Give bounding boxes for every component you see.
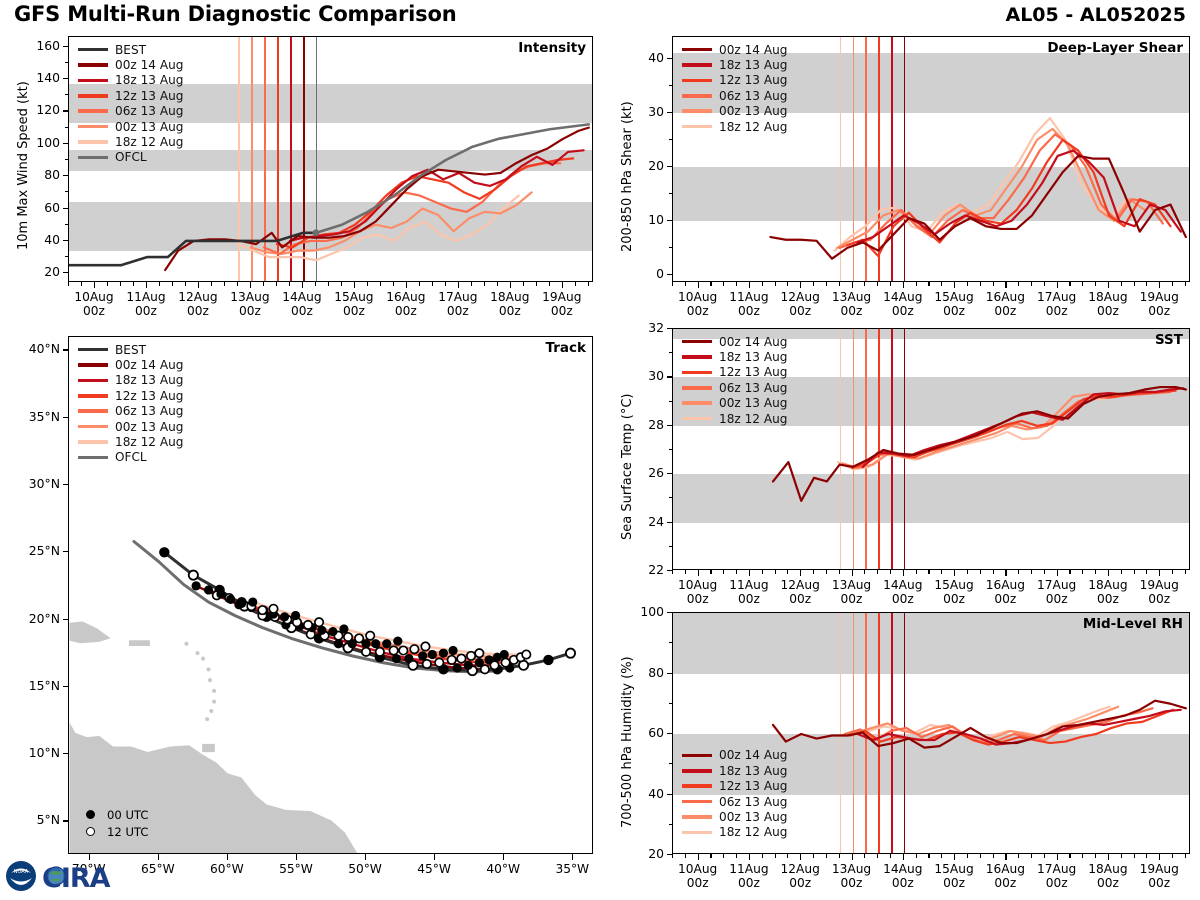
x-tick-minor xyxy=(380,282,381,286)
legend-item[interactable]: 00z 14 Aug xyxy=(78,57,183,72)
x-tick-minor xyxy=(1044,282,1045,286)
x-tick-mark xyxy=(1057,854,1058,860)
y-tick-mark xyxy=(667,274,672,275)
y-tick-mark xyxy=(667,473,672,474)
x-tick-minor xyxy=(133,282,134,286)
x-tick-minor xyxy=(1082,854,1083,858)
legend-item[interactable]: 18z 12 Aug xyxy=(682,825,787,840)
legend-item[interactable]: 00z 14 Aug xyxy=(682,42,787,57)
legend-item[interactable]: 12z 13 Aug xyxy=(78,88,183,103)
storm-id-title: AL05 - AL052025 xyxy=(1006,4,1187,26)
legend-item-label: 18z 13 Aug xyxy=(115,373,183,387)
legend-item[interactable]: 18z 12 Aug xyxy=(682,411,787,426)
y-tick-label: 160 xyxy=(22,38,60,53)
legend-item-label: 18z 13 Aug xyxy=(719,764,787,778)
track-marker-00utc xyxy=(159,547,169,557)
legend-item-label: 06z 13 Aug xyxy=(719,381,787,395)
legend-item[interactable]: 12z 13 Aug xyxy=(682,365,787,380)
x-tick-minor xyxy=(685,282,686,286)
legend-item-label: 06z 13 Aug xyxy=(719,795,787,809)
legend-item-label: 00z 14 Aug xyxy=(115,58,183,72)
x-tick-mark xyxy=(1005,570,1006,576)
latitude-tick-label: 15°N xyxy=(10,678,60,693)
x-tick-mark xyxy=(749,282,750,288)
x-tick-minor xyxy=(685,854,686,858)
x-tick-minor xyxy=(672,854,673,858)
y-tick-label: 20 xyxy=(626,846,664,861)
y-tick-label: 24 xyxy=(626,514,664,529)
x-tick-minor xyxy=(787,282,788,286)
longitude-tick-label: 50°W xyxy=(333,862,397,876)
legend-color-swatch xyxy=(78,363,108,367)
x-tick-minor xyxy=(916,570,917,574)
longitude-tick-mark xyxy=(227,854,228,860)
x-tick-mark xyxy=(698,570,699,576)
x-tick-minor xyxy=(775,282,776,286)
legend-item-label: 18z 12 Aug xyxy=(115,435,183,449)
x-tick-minor xyxy=(419,282,420,286)
x-tick-minor xyxy=(1044,854,1045,858)
x-tick-minor xyxy=(928,854,929,858)
legend-item[interactable]: 00z 13 Aug xyxy=(682,104,787,119)
x-tick-minor xyxy=(993,570,994,574)
x-tick-minor xyxy=(107,282,108,286)
legend-item-label: OFCL xyxy=(115,450,147,464)
x-tick-mark xyxy=(852,570,853,576)
latitude-tick-mark xyxy=(63,349,68,350)
shear-legend: 00z 14 Aug18z 13 Aug12z 13 Aug06z 13 Aug… xyxy=(682,42,787,134)
x-tick-mark xyxy=(1159,570,1160,576)
intensity-legend: BEST00z 14 Aug18z 13 Aug12z 13 Aug06z 13… xyxy=(78,42,183,165)
track-marker-12utc xyxy=(447,656,455,664)
legend-color-swatch xyxy=(682,79,712,83)
track-marker-12utc xyxy=(376,648,384,656)
x-tick-minor xyxy=(826,570,827,574)
legend-color-swatch xyxy=(682,48,712,52)
x-tick-minor xyxy=(1069,282,1070,286)
legend-item-label: 12z 13 Aug xyxy=(115,89,183,103)
track-marker-00utc xyxy=(543,655,553,665)
legend-item[interactable]: 00z 14 Aug xyxy=(682,748,787,763)
x-tick-minor xyxy=(1121,570,1122,574)
track-marker-12utc xyxy=(389,646,397,654)
track-marker-12utc xyxy=(315,618,323,626)
x-tick-minor xyxy=(775,570,776,574)
longitude-tick-mark xyxy=(434,854,435,860)
legend-item-label: 00z 13 Aug xyxy=(719,104,787,118)
track-marker-12utc xyxy=(410,645,418,653)
x-tick-label: 19Aug00z xyxy=(532,290,592,318)
x-tick-mark xyxy=(1108,282,1109,288)
marker-legend-label: 00 UTC xyxy=(107,808,148,822)
x-tick-minor xyxy=(736,282,737,286)
shear-y-axis-label: 200-850 hPa Shear (kt) xyxy=(620,101,635,252)
panel-intensity: Intensity BEST00z 14 Aug18z 13 Aug12z 13… xyxy=(68,36,593,282)
track-marker-12utc xyxy=(304,621,312,629)
x-tick-minor xyxy=(916,282,917,286)
legend-item[interactable]: 00z 14 Aug xyxy=(682,334,787,349)
legend-color-swatch xyxy=(78,48,108,52)
legend-item-label: 12z 13 Aug xyxy=(115,389,183,403)
x-tick-minor xyxy=(864,282,865,286)
y-tick-minor xyxy=(669,85,672,86)
sst-panel-label: SST xyxy=(1155,332,1183,348)
x-tick-minor xyxy=(367,282,368,286)
y-tick-mark xyxy=(667,328,672,329)
legend-item[interactable]: 00z 14 Aug xyxy=(78,357,183,372)
x-tick-minor xyxy=(723,282,724,286)
track-marker-00utc xyxy=(216,589,225,598)
x-tick-minor xyxy=(68,282,69,286)
x-tick-label: 19Aug00z xyxy=(1129,578,1189,606)
y-tick-minor xyxy=(669,763,672,764)
legend-item[interactable]: 00z 13 Aug xyxy=(78,419,183,434)
track-marker-12utc xyxy=(344,633,352,641)
rh-legend: 00z 14 Aug18z 13 Aug12z 13 Aug06z 13 Aug… xyxy=(682,748,787,840)
y-tick-label: 20 xyxy=(626,158,664,173)
track-marker-12utc xyxy=(501,658,509,666)
legend-color-swatch xyxy=(682,63,712,67)
y-tick-mark xyxy=(63,46,68,47)
track-marker-12utc xyxy=(522,650,530,658)
legend-item-label: 12z 13 Aug xyxy=(719,365,787,379)
x-tick-mark xyxy=(354,282,355,288)
legend-item[interactable]: 12z 13 Aug xyxy=(682,778,787,793)
y-tick-mark xyxy=(667,220,672,221)
x-tick-minor xyxy=(1172,570,1173,574)
legend-item-label: 06z 13 Aug xyxy=(115,404,183,418)
y-tick-label: 60 xyxy=(626,725,664,740)
x-tick-mark xyxy=(749,570,750,576)
longitude-tick-label: 60°W xyxy=(195,862,259,876)
x-tick-minor xyxy=(928,570,929,574)
x-tick-minor xyxy=(826,282,827,286)
legend-item[interactable]: 06z 13 Aug xyxy=(78,404,183,419)
legend-item[interactable]: 18z 12 Aug xyxy=(682,119,787,134)
x-tick-mark xyxy=(749,854,750,860)
legend-item-label: 18z 12 Aug xyxy=(719,412,787,426)
y-tick-minor xyxy=(65,159,68,160)
legend-item[interactable]: 00z 13 Aug xyxy=(682,396,787,411)
x-tick-minor xyxy=(1185,570,1186,574)
legend-item[interactable]: 06z 13 Aug xyxy=(682,794,787,809)
x-tick-minor xyxy=(993,854,994,858)
track-marker-12utc xyxy=(355,634,363,642)
x-tick-minor xyxy=(710,570,711,574)
x-tick-minor xyxy=(813,854,814,858)
series-line xyxy=(840,134,1163,248)
legend-color-swatch xyxy=(78,456,108,460)
y-tick-minor xyxy=(65,94,68,95)
x-tick-minor xyxy=(877,854,878,858)
y-tick-mark xyxy=(667,376,672,377)
y-tick-mark xyxy=(63,240,68,241)
legend-item-label: 00z 14 Aug xyxy=(719,748,787,762)
x-tick-mark xyxy=(698,282,699,288)
latitude-tick-label: 35°N xyxy=(10,409,60,424)
longitude-tick-mark xyxy=(572,854,573,860)
track-marker-00utc xyxy=(453,663,462,672)
y-tick-label: 20 xyxy=(22,264,60,279)
x-tick-minor xyxy=(81,282,82,286)
x-tick-label: 19Aug00z xyxy=(1129,862,1189,890)
open-marker-icon xyxy=(86,827,95,836)
x-tick-mark xyxy=(800,570,801,576)
x-tick-minor xyxy=(159,282,160,286)
y-tick-minor xyxy=(669,352,672,353)
svg-text:NOAA: NOAA xyxy=(14,869,29,875)
y-tick-minor xyxy=(65,256,68,257)
y-tick-minor xyxy=(669,401,672,402)
x-tick-minor xyxy=(710,282,711,286)
legend-color-swatch xyxy=(78,440,108,444)
track-marker-00utc xyxy=(339,624,348,633)
series-line xyxy=(773,387,1186,501)
x-tick-minor xyxy=(685,570,686,574)
x-tick-minor xyxy=(484,282,485,286)
legend-color-swatch xyxy=(682,94,712,98)
x-tick-mark xyxy=(954,282,955,288)
legend-item[interactable]: BEST xyxy=(78,42,183,57)
legend-item[interactable]: 18z 12 Aug xyxy=(78,434,183,449)
legend-color-swatch xyxy=(78,94,108,98)
noaa-logo-icon: NOAA xyxy=(6,861,36,891)
x-tick-minor xyxy=(1095,282,1096,286)
legend-item[interactable]: 18z 13 Aug xyxy=(682,763,787,778)
track-marker-12utc xyxy=(269,605,277,613)
y-tick-minor xyxy=(65,127,68,128)
longitude-tick-mark xyxy=(158,854,159,860)
y-tick-minor xyxy=(669,139,672,140)
y-tick-label: 100 xyxy=(626,604,664,619)
track-marker-12utc xyxy=(467,652,475,660)
track-marker-00utc xyxy=(280,612,289,621)
x-tick-minor xyxy=(315,282,316,286)
legend-item[interactable]: OFCL xyxy=(78,450,183,465)
x-tick-minor xyxy=(1018,854,1019,858)
x-tick-minor xyxy=(1185,854,1186,858)
x-tick-mark xyxy=(852,282,853,288)
y-tick-minor xyxy=(669,193,672,194)
y-tick-mark xyxy=(63,272,68,273)
legend-color-swatch xyxy=(682,784,712,788)
legend-color-swatch xyxy=(682,386,712,390)
legend-item[interactable]: 06z 13 Aug xyxy=(682,88,787,103)
x-tick-mark xyxy=(1057,282,1058,288)
latitude-tick-mark xyxy=(63,551,68,552)
y-tick-label: 40 xyxy=(22,232,60,247)
x-tick-minor xyxy=(1134,854,1135,858)
x-tick-minor xyxy=(775,854,776,858)
x-tick-mark xyxy=(562,282,563,288)
x-tick-minor xyxy=(890,282,891,286)
legend-color-swatch xyxy=(78,125,108,129)
series-line xyxy=(69,233,316,265)
x-tick-mark xyxy=(94,282,95,288)
x-tick-minor xyxy=(762,570,763,574)
y-tick-label: 60 xyxy=(22,200,60,215)
legend-color-swatch xyxy=(682,417,712,421)
track-marker-12utc xyxy=(475,649,483,657)
legend-item[interactable]: 18z 12 Aug xyxy=(78,134,183,149)
y-tick-label: 40 xyxy=(626,50,664,65)
x-tick-minor xyxy=(710,854,711,858)
noaa-cira-logo: NOAA CIRA xyxy=(4,856,140,898)
x-tick-minor xyxy=(941,570,942,574)
x-tick-minor xyxy=(1146,854,1147,858)
y-tick-minor xyxy=(65,224,68,225)
x-tick-mark xyxy=(302,282,303,288)
legend-item[interactable]: 18z 13 Aug xyxy=(78,73,183,88)
y-tick-label: 0 xyxy=(626,266,664,281)
y-tick-label: 22 xyxy=(626,562,664,577)
legend-item[interactable]: 06z 13 Aug xyxy=(682,380,787,395)
legend-item-label: 18z 13 Aug xyxy=(719,58,787,72)
legend-color-swatch xyxy=(682,800,712,804)
x-tick-minor xyxy=(736,854,737,858)
legend-item-label: 12z 13 Aug xyxy=(719,779,787,793)
x-tick-minor xyxy=(445,282,446,286)
track-marker-00utc xyxy=(428,650,437,659)
y-tick-mark xyxy=(63,110,68,111)
x-tick-minor xyxy=(224,282,225,286)
track-marker-00utc xyxy=(204,585,213,594)
x-tick-minor xyxy=(1146,282,1147,286)
legend-color-swatch xyxy=(78,348,108,352)
x-tick-minor xyxy=(980,570,981,574)
x-tick-mark xyxy=(198,282,199,288)
latitude-tick-mark xyxy=(63,686,68,687)
y-tick-minor xyxy=(65,191,68,192)
x-tick-minor xyxy=(1082,570,1083,574)
x-tick-mark xyxy=(146,282,147,288)
legend-color-swatch xyxy=(78,379,108,383)
x-tick-minor xyxy=(877,282,878,286)
longitude-tick-label: 45°W xyxy=(402,862,466,876)
legend-color-swatch xyxy=(682,815,712,819)
track-marker-12utc xyxy=(457,654,465,662)
x-tick-minor xyxy=(523,282,524,286)
x-tick-mark xyxy=(800,282,801,288)
x-tick-minor xyxy=(672,282,673,286)
x-tick-minor xyxy=(967,570,968,574)
x-tick-mark xyxy=(1159,854,1160,860)
x-tick-mark xyxy=(954,854,955,860)
x-tick-mark xyxy=(954,570,955,576)
x-tick-minor xyxy=(826,854,827,858)
legend-item-label: 00z 13 Aug xyxy=(115,420,183,434)
series-line xyxy=(858,151,1181,243)
legend-color-swatch xyxy=(78,409,108,413)
y-tick-label: 30 xyxy=(626,368,664,383)
x-tick-minor xyxy=(787,570,788,574)
legend-item[interactable]: OFCL xyxy=(78,150,183,165)
x-tick-mark xyxy=(250,282,251,288)
x-tick-minor xyxy=(497,282,498,286)
x-tick-minor xyxy=(723,854,724,858)
x-tick-minor xyxy=(1172,282,1173,286)
x-tick-minor xyxy=(1146,570,1147,574)
legend-item[interactable]: 18z 13 Aug xyxy=(682,349,787,364)
legend-item-label: 18z 12 Aug xyxy=(719,120,787,134)
x-tick-minor xyxy=(839,854,840,858)
x-tick-minor xyxy=(588,282,589,286)
x-tick-minor xyxy=(1095,854,1096,858)
track-marker-12utc xyxy=(258,606,266,614)
latitude-tick-mark xyxy=(63,753,68,754)
x-tick-minor xyxy=(839,570,840,574)
legend-item[interactable]: 00z 13 Aug xyxy=(682,809,787,824)
legend-color-swatch xyxy=(78,425,108,429)
track-marker-00utc xyxy=(226,595,235,604)
legend-item-label: 00z 14 Aug xyxy=(719,43,787,57)
y-tick-mark xyxy=(667,733,672,734)
x-tick-minor xyxy=(1031,854,1032,858)
ofcl-origin-marker xyxy=(313,229,320,236)
x-tick-minor xyxy=(120,282,121,286)
track-marker-00utc xyxy=(464,661,473,670)
legend-color-swatch xyxy=(682,355,712,359)
legend-color-swatch xyxy=(78,156,108,160)
y-tick-label: 80 xyxy=(22,167,60,182)
x-tick-minor xyxy=(877,570,878,574)
panel-sst: SST 00z 14 Aug18z 13 Aug12z 13 Aug06z 13… xyxy=(672,328,1190,570)
track-marker-00utc xyxy=(248,597,257,606)
legend-item[interactable]: 18z 13 Aug xyxy=(682,57,787,72)
legend-color-swatch xyxy=(682,401,712,405)
legend-item[interactable]: 18z 13 Aug xyxy=(78,373,183,388)
y-tick-minor xyxy=(669,642,672,643)
x-tick-mark xyxy=(698,854,699,860)
x-tick-minor xyxy=(839,282,840,286)
legend-item-label: 18z 12 Aug xyxy=(719,825,787,839)
x-tick-minor xyxy=(723,570,724,574)
legend-item[interactable]: 12z 13 Aug xyxy=(682,73,787,88)
x-tick-mark xyxy=(1108,854,1109,860)
y-tick-minor xyxy=(65,62,68,63)
track-marker-00utc xyxy=(371,639,380,648)
x-tick-minor xyxy=(185,282,186,286)
track-marker-00utc xyxy=(237,599,246,608)
legend-item[interactable]: 06z 13 Aug xyxy=(78,104,183,119)
y-tick-label: 26 xyxy=(626,465,664,480)
track-marker-12utc xyxy=(566,649,575,658)
y-tick-mark xyxy=(667,522,672,523)
x-tick-minor xyxy=(1134,282,1135,286)
x-tick-minor xyxy=(980,282,981,286)
x-tick-minor xyxy=(393,282,394,286)
x-tick-minor xyxy=(916,854,917,858)
x-tick-mark xyxy=(800,854,801,860)
x-tick-minor xyxy=(1031,570,1032,574)
x-tick-mark xyxy=(852,854,853,860)
x-tick-minor xyxy=(672,570,673,574)
legend-item[interactable]: 12z 13 Aug xyxy=(78,388,183,403)
longitude-tick-label: 55°W xyxy=(264,862,328,876)
y-tick-mark xyxy=(667,673,672,674)
legend-item[interactable]: BEST xyxy=(78,342,183,357)
track-marker-00utc xyxy=(382,639,391,648)
intensity-panel-label: Intensity xyxy=(518,40,586,56)
y-tick-mark xyxy=(63,78,68,79)
track-marker-00utc xyxy=(475,658,484,667)
marker-legend-item: 12 UTC xyxy=(82,823,148,840)
latitude-tick-label: 10°N xyxy=(10,745,60,760)
x-tick-minor xyxy=(1044,570,1045,574)
y-tick-label: 120 xyxy=(22,102,60,117)
legend-item[interactable]: 00z 13 Aug xyxy=(78,119,183,134)
x-tick-minor xyxy=(813,570,814,574)
